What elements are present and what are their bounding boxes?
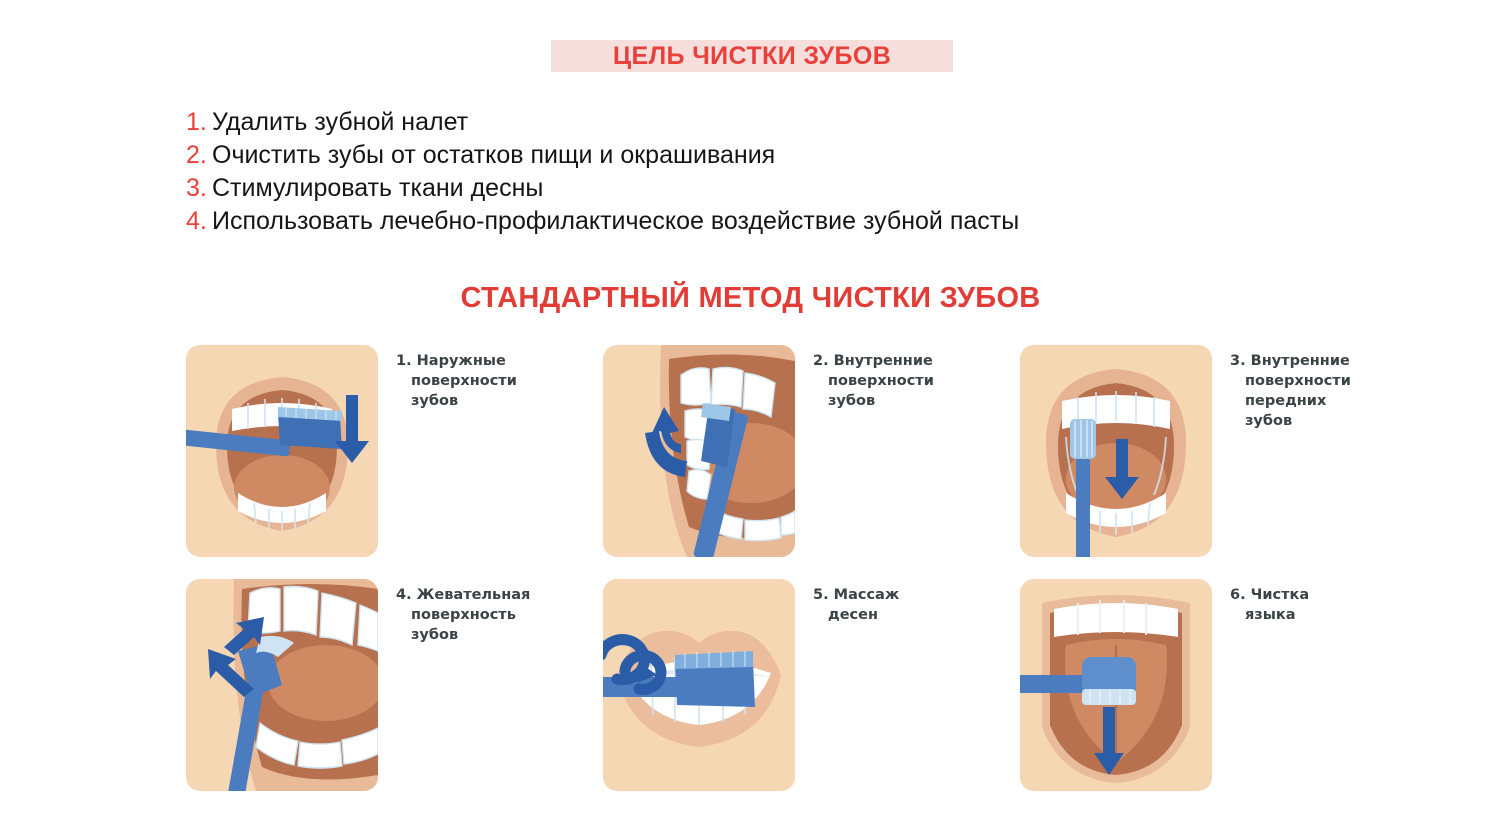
step-5-caption: 5. Массаж десен [813, 579, 899, 625]
open-mouth-front-brush-horizontal-icon [186, 345, 378, 557]
step-6-caption: 6. Чистка языка [1230, 579, 1309, 625]
brushing-steps-grid: 1. Наружные поверхности зубов [186, 345, 1436, 791]
step-4-caption: 4. Жевательная поверхность зубов [396, 579, 530, 645]
goal-text: Очистить зубы от остатков пищи и окрашив… [212, 139, 775, 172]
caption-line: передних [1230, 391, 1351, 411]
open-mouth-brush-vertical-icon [1020, 345, 1212, 557]
goal-text: Удалить зубной налет [212, 106, 468, 139]
page-title-banner: ЦЕЛЬ ЧИСТКИ ЗУБОВ [551, 40, 953, 72]
open-mouth-tongue-brush-icon [1020, 579, 1212, 791]
caption-line: зубов [1230, 411, 1351, 431]
row-spacer [186, 557, 1436, 579]
caption-line: поверхности [813, 371, 934, 391]
caption-line: зубов [396, 625, 530, 645]
caption-line: 2. Внутренние [813, 351, 934, 371]
step-1-illustration [186, 345, 378, 557]
goal-number: 1. [186, 106, 212, 139]
step-4: 4. Жевательная поверхность зубов [186, 579, 603, 791]
goal-number: 2. [186, 139, 212, 172]
closed-lips-brush-gum-massage-icon [603, 579, 795, 791]
caption-line: поверхности [1230, 371, 1351, 391]
goal-text: Использовать лечебно-профилактическое во… [212, 205, 1019, 238]
step-2-caption: 2. Внутренние поверхности зубов [813, 345, 934, 411]
caption-line: зубов [813, 391, 934, 411]
side-mouth-brush-diagonal-icon [603, 345, 795, 557]
goal-item: 2. Очистить зубы от остатков пищи и окра… [186, 139, 1336, 172]
step-1-caption: 1. Наружные поверхности зубов [396, 345, 517, 411]
caption-line: 3. Внутренние [1230, 351, 1351, 371]
steps-row-bottom: 4. Жевательная поверхность зубов [186, 579, 1436, 791]
goal-item: 4. Использовать лечебно-профилактическое… [186, 205, 1336, 238]
step-3: 3. Внутренние поверхности передних зубов [1020, 345, 1437, 557]
caption-line: 5. Массаж [813, 585, 899, 605]
step-3-illustration [1020, 345, 1212, 557]
step-2: 2. Внутренние поверхности зубов [603, 345, 1020, 557]
side-mouth-brush-chewing-surface-icon [186, 579, 378, 791]
goal-number: 3. [186, 172, 212, 205]
caption-line: 4. Жевательная [396, 585, 530, 605]
caption-line: зубов [396, 391, 517, 411]
step-5-illustration [603, 579, 795, 791]
caption-line: 1. Наружные [396, 351, 517, 371]
caption-line: языка [1230, 605, 1309, 625]
step-5: 5. Массаж десен [603, 579, 1020, 791]
caption-line: 6. Чистка [1230, 585, 1309, 605]
step-3-caption: 3. Внутренние поверхности передних зубов [1230, 345, 1351, 431]
steps-row-top: 1. Наружные поверхности зубов [186, 345, 1436, 557]
page-title: ЦЕЛЬ ЧИСТКИ ЗУБОВ [613, 44, 891, 69]
caption-line: поверхности [396, 371, 517, 391]
step-4-illustration [186, 579, 378, 791]
goal-item: 1. Удалить зубной налет [186, 106, 1336, 139]
goal-number: 4. [186, 205, 212, 238]
goal-text: Стимулировать ткани десны [212, 172, 543, 205]
step-6-illustration [1020, 579, 1212, 791]
section-heading: СТАНДАРТНЫЙ МЕТОД ЧИСТКИ ЗУБОВ [0, 282, 1501, 315]
caption-line: поверхность [396, 605, 530, 625]
goals-list: 1. Удалить зубной налет 2. Очистить зубы… [186, 106, 1336, 238]
step-6: 6. Чистка языка [1020, 579, 1437, 791]
step-1: 1. Наружные поверхности зубов [186, 345, 603, 557]
caption-line: десен [813, 605, 899, 625]
goal-item: 3. Стимулировать ткани десны [186, 172, 1336, 205]
step-2-illustration [603, 345, 795, 557]
